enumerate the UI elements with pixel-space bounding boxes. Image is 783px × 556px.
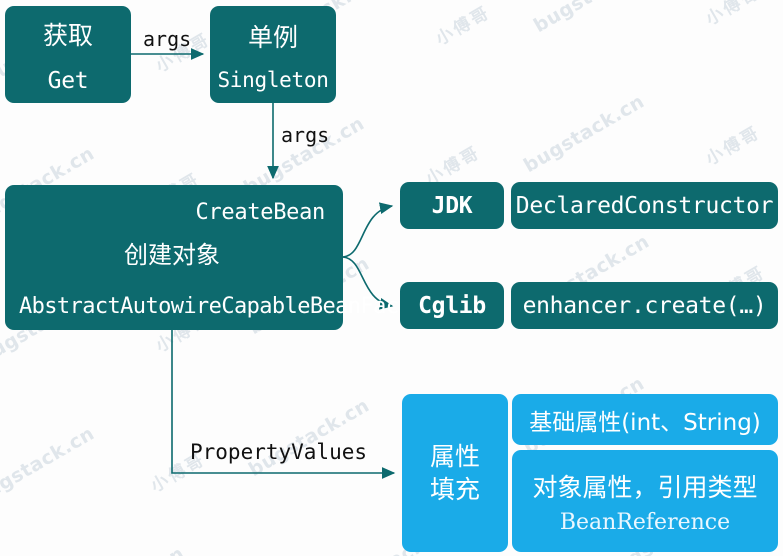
node-get-cn-label: 获取: [43, 16, 93, 52]
watermark-author: 小傅哥: [430, 0, 494, 50]
watermark-site: bugstack.cn: [0, 422, 98, 509]
node-jdk[interactable]: JDK: [400, 182, 504, 229]
node-populate-line2-label: 填充: [430, 474, 480, 505]
edge-createbean-to-jdk: [343, 206, 392, 257]
node-populate-line1-label: 属性: [430, 441, 480, 472]
watermark-author: 小傅哥: [700, 0, 764, 30]
node-declaredconstructor[interactable]: DeclaredConstructor: [511, 182, 778, 229]
watermark-site: bugstack.cn: [530, 0, 658, 37]
node-enhancer-create-label: enhancer.create(…): [523, 293, 767, 319]
node-basic-properties[interactable]: 基础属性(int、String): [512, 394, 778, 445]
node-createbean[interactable]: CreateBean 创建对象 AbstractAutowireCapableB…: [5, 185, 343, 330]
node-singleton-cn-label: 单例: [248, 18, 298, 54]
node-populate-properties[interactable]: 属性 填充: [402, 394, 508, 552]
watermark-site: bugstack.cn: [60, 542, 188, 556]
edge-label-args-singleton-to-createbean: args: [281, 123, 329, 147]
node-enhancer-create[interactable]: enhancer.create(…): [511, 282, 778, 329]
edge-label-propertyvalues: PropertyValues: [190, 440, 367, 464]
node-cglib[interactable]: Cglib: [400, 282, 504, 329]
node-singleton[interactable]: 单例 Singleton: [210, 6, 336, 103]
diagram-canvas: bugstack.cn 小傅哥 bugstack.cn 小傅哥 bugstack…: [0, 0, 783, 556]
watermark-site: bugstack.cn: [245, 394, 373, 481]
node-object-properties-en-label: BeanReference: [560, 510, 730, 535]
edge-label-args-get-to-singleton: args: [143, 27, 191, 51]
watermark-site: bugstack.cn: [520, 90, 648, 177]
node-jdk-label: JDK: [432, 193, 473, 219]
node-get-en-label: Get: [48, 68, 89, 94]
node-object-properties-cn-label: 对象属性，引用类型: [532, 468, 757, 504]
node-cglib-label: Cglib: [418, 293, 486, 319]
node-declaredconstructor-label: DeclaredConstructor: [516, 193, 773, 219]
node-object-properties[interactable]: 对象属性，引用类型 BeanReference: [512, 450, 778, 552]
node-createbean-cn-label: 创建对象: [19, 235, 325, 270]
node-createbean-class-label: AbstractAutowireCapableBeanFactory: [19, 294, 325, 319]
node-get[interactable]: 获取 Get: [5, 6, 131, 103]
watermark-author: 小傅哥: [700, 118, 764, 170]
node-basic-properties-label: 基础属性(int、String): [529, 403, 761, 437]
node-singleton-en-label: Singleton: [217, 68, 328, 92]
node-createbean-method-label: CreateBean: [19, 200, 325, 225]
